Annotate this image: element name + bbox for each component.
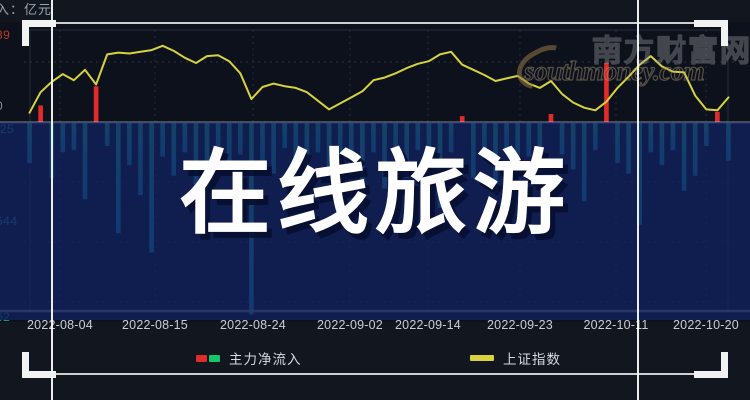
- legend-label-sse-index: 上证指数: [503, 348, 561, 368]
- x-axis-tick-0: 2022-08-04: [27, 318, 93, 332]
- legend-label-main-inflow: 主力净流入: [229, 348, 302, 368]
- x-axis-tick-2: 2022-08-24: [220, 318, 286, 332]
- y-axis-tick-1: 0: [0, 99, 3, 113]
- x-axis-tick-5: 2022-09-23: [487, 318, 553, 332]
- red-green-bar-icon: [196, 355, 220, 362]
- chart-screenshot: 流入：亿元 390.2564462 在线旅游 南方财富网 southmoney.…: [0, 0, 750, 400]
- frame-line-bottom: [22, 373, 728, 375]
- y-axis-tick-0: 39: [0, 28, 10, 42]
- crosshair-vertical-left: [51, 0, 53, 400]
- legend-item-sse-index[interactable]: 上证指数: [470, 348, 561, 368]
- yellow-line-icon: [470, 355, 494, 361]
- x-axis-tick-7: 2022-10-20: [673, 318, 739, 332]
- x-axis-tick-1: 2022-08-15: [122, 318, 188, 332]
- crosshair-vertical-right: [637, 0, 639, 400]
- legend-item-main-inflow[interactable]: 主力净流入: [196, 348, 302, 368]
- x-axis-tick-3: 2022-09-02: [317, 318, 383, 332]
- axis-unit-label: 流入：亿元: [0, 0, 52, 18]
- x-axis-tick-4: 2022-09-14: [395, 318, 461, 332]
- bracket-bottom-right-h: [694, 371, 728, 378]
